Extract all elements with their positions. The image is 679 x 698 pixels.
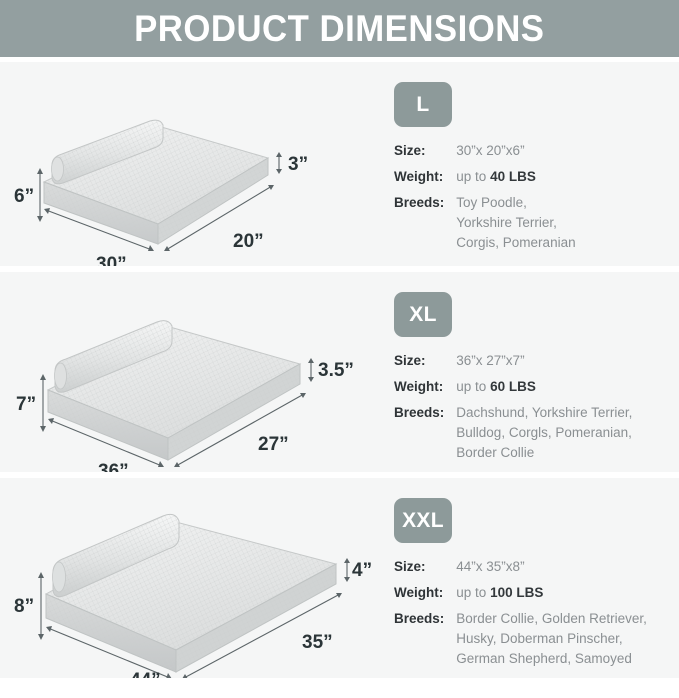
dimension-width-xl: 36” [98,461,129,472]
dimension-height-bolster-xxl: 8” [14,596,34,617]
dimension-height-mattress-l: 3” [288,154,308,175]
size-badge-xxl: XXL [394,498,452,543]
breed-line: Toy Poodle, [456,193,575,213]
breed-line: Husky, Doberman Pinscher, [456,629,647,649]
product-section-l: 6” 30” 20” 3” [0,62,679,266]
spec-row-breeds: Breeds: Toy Poodle, Yorkshire Terrier, C… [394,193,576,259]
product-illustration-l: 6” 30” 20” 3” [0,62,378,266]
weight-prefix-xl: up to [456,379,490,394]
product-illustration-xl: 7” 36” 27” 3.5” [0,272,378,472]
breed-line: Border Collie [456,443,632,463]
weight-value-xl: 60 LBS [490,379,536,394]
spec-value-breeds-l: Toy Poodle, Yorkshire Terrier, Corgis, P… [456,193,575,259]
breed-line: Dachshund, Yorkshire Terrier, [456,403,632,423]
size-badge-label-xl: XL [409,304,436,325]
breed-line: Yorkshire Terrier, [456,213,575,233]
dimension-height-bolster-l: 6” [14,186,34,207]
spec-row-weight: Weight: up to 40 LBS [394,167,576,193]
spec-value-size-xxl: 44”x 35”x8” [456,557,647,583]
dimension-depth-l: 20” [233,231,264,252]
dimension-depth-xl: 27” [258,434,289,455]
breed-line: Border Collie, Golden Retriever, [456,609,647,629]
dimension-depth-xxl: 35” [302,632,333,653]
header-banner: PRODUCT DIMENSIONS [0,0,679,57]
spec-value-breeds-xl: Dachshund, Yorkshire Terrier, Bulldog, C… [456,403,632,469]
dimension-height-mattress-xl: 3.5” [318,360,354,381]
spec-value-weight-xxl: up to 100 LBS [456,583,647,609]
spec-row-size: Size: 44”x 35”x8” [394,557,647,583]
spec-row-weight: Weight: up to 100 LBS [394,583,647,609]
breed-line: Corgis, Pomeranian [456,233,575,253]
spec-panel-xxl: XXL Size: 44”x 35”x8” Weight: up to 100 … [388,478,647,698]
dimension-width-l: 30” [96,254,127,266]
spec-label-size: Size: [394,557,456,583]
spec-value-weight-xl: up to 60 LBS [456,377,632,403]
spec-label-weight: Weight: [394,377,456,403]
dimension-width-xxl: 44” [130,670,161,678]
product-section-xl: 7” 36” 27” 3.5” XL [0,272,679,472]
spec-panel-xl: XL Size: 36”x 27”x7” Weight: up to 60 LB… [388,272,632,492]
spec-panel-l: L Size: 30”x 20”x6” Weight: up to 40 LBS… [388,62,576,286]
spec-value-size-xl: 36”x 27”x7” [456,351,632,377]
product-dimensions-infographic: PRODUCT DIMENSIONS [0,0,679,678]
spec-label-weight: Weight: [394,583,456,609]
dimension-height-bolster-xl: 7” [16,394,36,415]
spec-row-size: Size: 30”x 20”x6” [394,141,576,167]
spec-row-size: Size: 36”x 27”x7” [394,351,632,377]
breed-line: German Shepherd, Samoyed [456,649,647,669]
weight-prefix-xxl: up to [456,585,490,600]
spec-label-breeds: Breeds: [394,609,456,675]
spec-table-xl: Size: 36”x 27”x7” Weight: up to 60 LBS B… [394,351,632,469]
spec-table-l: Size: 30”x 20”x6” Weight: up to 40 LBS B… [394,141,576,259]
weight-value-xxl: 100 LBS [490,585,543,600]
spec-label-breeds: Breeds: [394,403,456,469]
spec-label-breeds: Breeds: [394,193,456,259]
product-section-xxl: 8” 44” 35” 4” XXL [0,478,679,678]
size-badge-label-xxl: XXL [402,510,444,531]
weight-prefix-l: up to [456,169,490,184]
spec-row-weight: Weight: up to 60 LBS [394,377,632,403]
spec-row-breeds: Breeds: Border Collie, Golden Retriever,… [394,609,647,675]
spec-label-weight: Weight: [394,167,456,193]
spec-row-breeds: Breeds: Dachshund, Yorkshire Terrier, Bu… [394,403,632,469]
spec-table-xxl: Size: 44”x 35”x8” Weight: up to 100 LBS … [394,557,647,675]
spec-value-breeds-xxl: Border Collie, Golden Retriever, Husky, … [456,609,647,675]
spec-value-weight-l: up to 40 LBS [456,167,575,193]
dimension-height-mattress-xxl: 4” [352,560,372,581]
size-badge-l: L [394,82,452,127]
weight-value-l: 40 LBS [490,169,536,184]
spec-value-size-l: 30”x 20”x6” [456,141,575,167]
spec-label-size: Size: [394,351,456,377]
size-badge-xl: XL [394,292,452,337]
product-illustration-xxl: 8” 44” 35” 4” [0,478,378,678]
size-badge-label-l: L [416,94,429,115]
breed-line: Bulldog, Corgls, Pomeranian, [456,423,632,443]
spec-label-size: Size: [394,141,456,167]
page-title: PRODUCT DIMENSIONS [134,10,544,47]
